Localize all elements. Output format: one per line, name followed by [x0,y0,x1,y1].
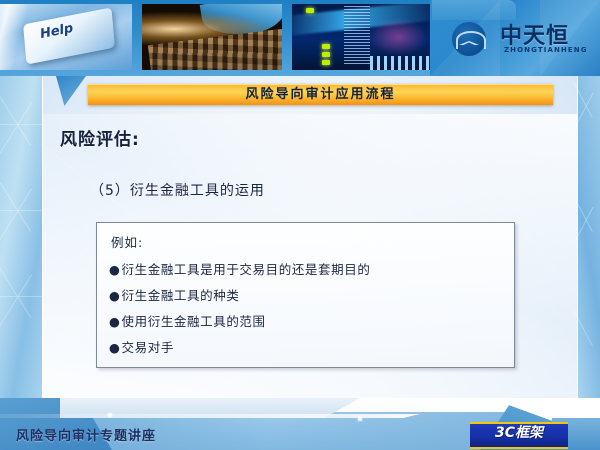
mountain-arch-logo-icon [452,22,486,56]
footer-dot [358,417,362,421]
slide-title-area: 风险导向审计应用流程 [0,76,600,114]
list-item-label: 使用衍生金融工具的范围 [122,314,266,329]
right-edge-decor [578,76,600,398]
slide-header-strip: Help [0,0,600,76]
slide-title-text: 风险导向审计应用流程 [88,84,553,105]
list-item: ●衍生金融工具是用于交易目的还是套期目的 [109,259,370,278]
magenta-glow [368,18,428,56]
led-indicator [322,44,330,49]
facet-pattern [0,76,42,398]
3c-framework-badge: 3C框架 [470,422,568,449]
list-item: ●交易对手 [109,337,174,356]
footer-dot [108,413,112,417]
left-edge-decor [0,76,42,398]
presentation-slide: Help [0,0,600,450]
bullet-icon: ● [109,314,121,329]
slide-title-banner: 风险导向审计应用流程 [88,84,553,105]
section-heading: 风险评估: [60,125,140,150]
example-box-lead: 例如: [111,232,143,251]
3c-framework-badge-text: 3C框架 [470,424,568,443]
bullet-icon: ● [109,288,121,303]
list-item-label: 交易对手 [122,340,174,355]
bullet-icon: ● [109,262,121,277]
list-item: ●衍生金融工具的种类 [109,285,239,304]
numbered-subitem: （5）衍生金融工具的运用 [90,180,265,200]
keyboard-help-key-photo: Help [0,4,132,70]
title-notch-decor [56,76,86,106]
footer-title: 风险导向审计专题讲座 [16,425,156,444]
connector-pins [370,56,430,70]
laptop-keyboard-photo [142,4,282,70]
list-item: ●使用衍生金融工具的范围 [109,311,266,330]
facet-pattern [578,76,600,398]
footer-highlight-line [0,414,420,418]
chip-traces [344,6,370,64]
led-indicator [322,52,330,57]
led-indicator [306,8,314,13]
list-item-label: 衍生金融工具是用于交易目的还是套期目的 [122,262,371,277]
example-box: 例如: ●衍生金融工具是用于交易目的还是套期目的 ●衍生金融工具的种类 ●使用衍… [96,222,515,368]
list-item-label: 衍生金融工具的种类 [122,288,240,303]
slide-content: 风险评估: （5）衍生金融工具的运用 例如: ●衍生金融工具是用于交易目的还是套… [42,114,578,398]
slide-footer: 风险导向审计专题讲座 3C框架 [0,398,600,450]
circuit-board-photo [292,4,432,70]
company-name-pinyin: ZHONGTIANHENG [504,46,588,54]
company-logo-panel: 中天恒 ZHONGTIANHENG [430,0,600,76]
bullet-icon: ● [109,340,121,355]
led-indicator [322,60,330,65]
